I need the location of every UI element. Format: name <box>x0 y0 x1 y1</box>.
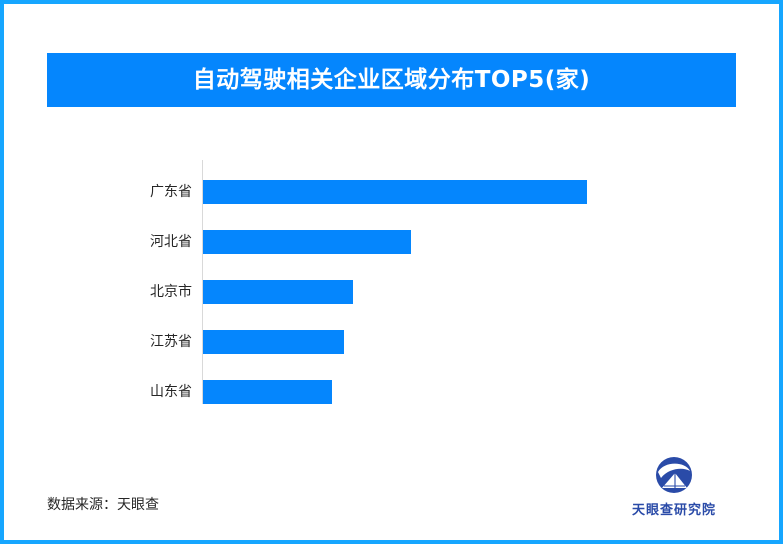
bar-category-label: 江苏省 <box>47 330 192 354</box>
bar-fill <box>203 280 353 304</box>
data-source-note: 数据来源：天眼查 <box>47 494 159 514</box>
bar-category-label: 广东省 <box>47 180 192 204</box>
bar-chart: 广东省河北省北京市江苏省山东省 <box>47 154 736 414</box>
brand-logo: 天眼查研究院 <box>614 456 734 518</box>
bar-fill <box>203 380 332 404</box>
title-banner: 自动驾驶相关企业区域分布TOP5(家) <box>47 53 736 107</box>
bar-track <box>203 180 736 204</box>
bar-row: 山东省 <box>47 380 736 404</box>
bar-fill <box>203 330 344 354</box>
bar-category-label: 河北省 <box>47 230 192 254</box>
eye-arc-logo-icon <box>652 456 696 496</box>
bar-track <box>203 330 736 354</box>
poster-card: 自动驾驶相关企业区域分布TOP5(家) 广东省河北省北京市江苏省山东省 数据来源… <box>0 0 783 544</box>
bar-category-label: 山东省 <box>47 380 192 404</box>
bar-fill <box>203 180 587 204</box>
bar-track <box>203 380 736 404</box>
bar-row: 广东省 <box>47 180 736 204</box>
page-title: 自动驾驶相关企业区域分布TOP5(家) <box>193 69 591 92</box>
bar-rows-container: 广东省河北省北京市江苏省山东省 <box>47 154 736 410</box>
bar-track <box>203 230 736 254</box>
bar-track <box>203 280 736 304</box>
bar-row: 北京市 <box>47 280 736 304</box>
bar-category-label: 北京市 <box>47 280 192 304</box>
bar-row: 河北省 <box>47 230 736 254</box>
bar-row: 江苏省 <box>47 330 736 354</box>
brand-logo-text: 天眼查研究院 <box>632 499 716 518</box>
bar-fill <box>203 230 411 254</box>
